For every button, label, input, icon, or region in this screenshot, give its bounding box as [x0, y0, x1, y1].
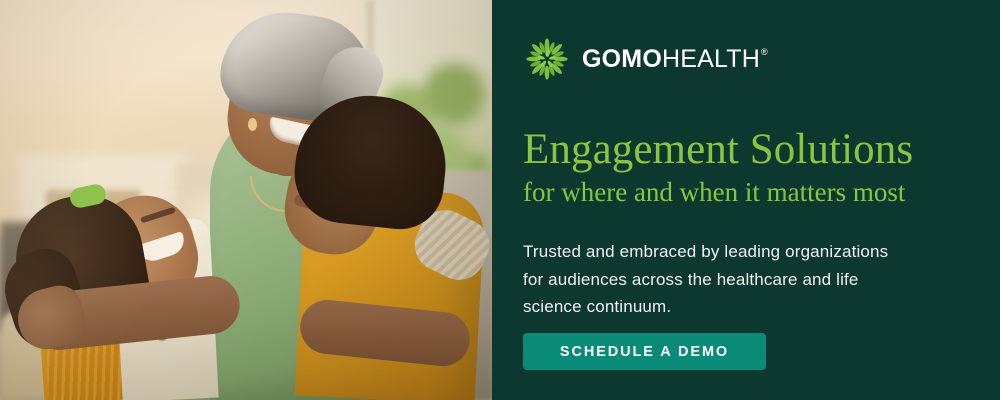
headline-primary: Engagement Solutions: [523, 128, 963, 173]
gomo-health-promo-banner: GOMOHEALTH® Engagement Solutions for whe…: [0, 0, 1000, 400]
brand-wordmark: GOMOHEALTH®: [582, 47, 767, 72]
body-copy: Trusted and embraced by leading organiza…: [523, 238, 903, 321]
hero-photo: [0, 0, 492, 400]
headline-secondary: for where and when it matters most: [523, 177, 963, 207]
wordmark-gomo: GOMO: [582, 45, 662, 73]
gomo-sunburst-leaf-icon: [525, 37, 569, 81]
grandmother-earring: [248, 118, 257, 131]
wordmark-health: HEALTH: [662, 45, 760, 73]
brand-logo[interactable]: GOMOHEALTH®: [525, 37, 767, 81]
content-panel: GOMOHEALTH® Engagement Solutions for whe…: [492, 0, 1000, 400]
registered-trademark-icon: ®: [761, 47, 768, 57]
schedule-a-demo-button[interactable]: SCHEDULE A DEMO: [523, 333, 766, 370]
headline-block: Engagement Solutions for where and when …: [523, 128, 963, 207]
